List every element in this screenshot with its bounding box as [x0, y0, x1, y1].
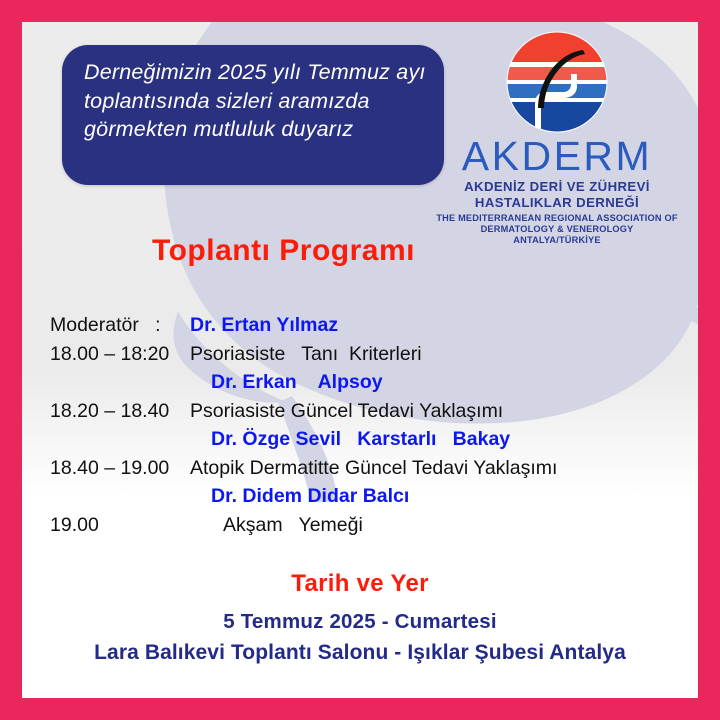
invitation-text: Derneğimizin 2025 yılı Temmuz ayı toplan… [84, 58, 428, 144]
akderm-logo: AKDERM AKDENİZ DERİ VE ZÜHREVİ HASTALIKL… [432, 30, 682, 246]
event-details-title: Tarih ve Yer [22, 570, 698, 598]
invitation-bubble: Derneğimizin 2025 yılı Temmuz ayı toplan… [62, 45, 444, 185]
schedule-row: 18.20 – 18.40 Psoriasiste Güncel Tedavi … [50, 400, 670, 429]
row-text: Psoriasiste Tanı Kriterleri [190, 343, 422, 366]
row-text: Psoriasiste Güncel Tedavi Yaklaşımı [190, 400, 503, 423]
row-text: Dr. Ertan Yılmaz [190, 314, 338, 337]
row-text: Atopik Dermatitte Güncel Tedavi Yaklaşım… [190, 457, 557, 480]
row-text: Dr. Erkan Alpsoy [190, 371, 383, 394]
row-time: 18.00 – 18:20 [50, 343, 190, 366]
schedule-row-speaker: Dr. Özge Sevil Karstarlı Bakay [50, 428, 670, 457]
akderm-subtitle-turkish: AKDENİZ DERİ VE ZÜHREVİ HASTALIKLAR DERN… [432, 179, 682, 210]
row-text: Dr. Özge Sevil Karstarlı Bakay [190, 428, 510, 451]
program-title: Toplantı Programı [152, 234, 415, 268]
schedule-row-moderator: Moderatör : Dr. Ertan Yılmaz [50, 314, 670, 343]
row-text: Dr. Didem Didar Balcı [190, 485, 409, 508]
event-details: Tarih ve Yer 5 Temmuz 2025 - Cumartesi L… [22, 570, 698, 665]
row-text: Akşam Yemeği [190, 514, 363, 537]
row-time: Moderatör : [50, 314, 190, 337]
row-time: 18.40 – 19.00 [50, 457, 190, 480]
event-venue: Lara Balıkevi Toplantı Salonu - Işıklar … [22, 641, 698, 665]
akderm-logo-icon [505, 30, 609, 134]
akderm-wordmark: AKDERM [432, 136, 682, 177]
schedule-row-speaker: Dr. Didem Didar Balcı [50, 485, 670, 514]
row-time: 18.20 – 18.40 [50, 400, 190, 423]
schedule-row: 18.40 – 19.00 Atopik Dermatitte Güncel T… [50, 457, 670, 486]
akderm-subtitle-english: THE MEDITERRANEAN REGIONAL ASSOCIATION O… [432, 213, 682, 246]
schedule-row: 19.00 Akşam Yemeği [50, 514, 670, 543]
program-schedule: Moderatör : Dr. Ertan Yılmaz 18.00 – 18:… [50, 314, 670, 542]
event-date: 5 Temmuz 2025 - Cumartesi [22, 610, 698, 634]
row-time: 19.00 [50, 514, 190, 537]
schedule-row: 18.00 – 18:20 Psoriasiste Tanı Kriterler… [50, 343, 670, 372]
poster: Derneğimizin 2025 yılı Temmuz ayı toplan… [0, 0, 720, 720]
schedule-row-speaker: Dr. Erkan Alpsoy [50, 371, 670, 400]
poster-inner-frame: Derneğimizin 2025 yılı Temmuz ayı toplan… [22, 22, 698, 698]
